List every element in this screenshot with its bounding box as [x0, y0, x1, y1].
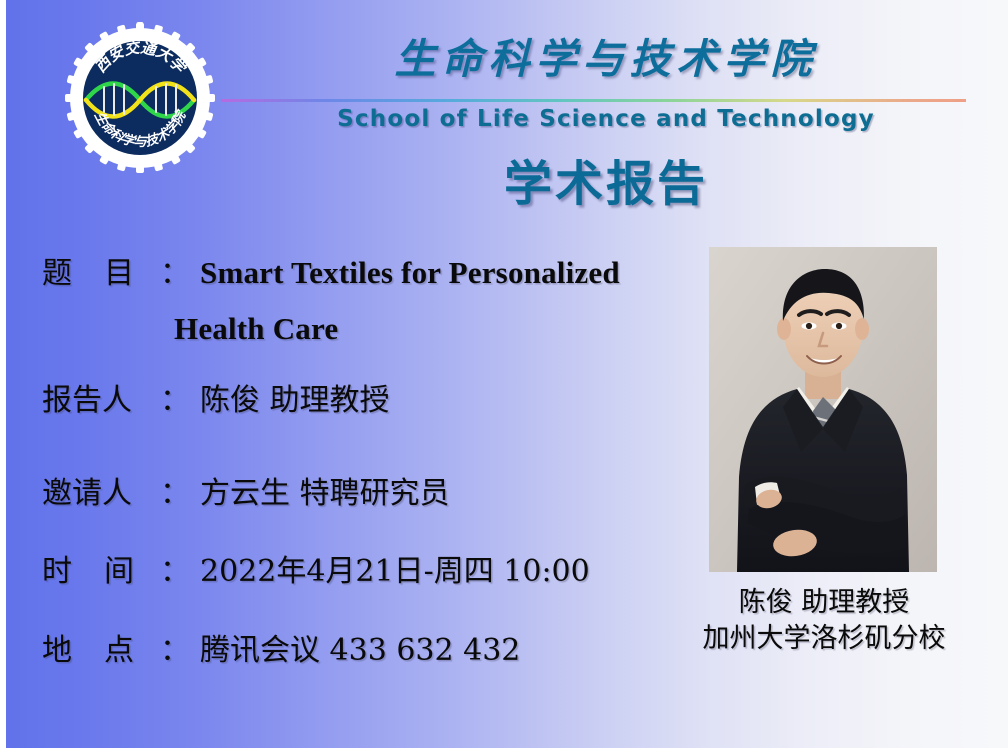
colon-topic: ：: [160, 248, 190, 292]
school-name-en: School of Life Science and Technology: [256, 106, 956, 132]
value-topic-line1: Smart Textiles for Personalized: [200, 255, 620, 291]
row-speaker: 报告人 ： 陈俊 助理教授: [42, 375, 390, 419]
row-inviter: 邀请人 ： 方云生 特聘研究员: [42, 468, 450, 512]
caption-affiliation: 加州大学洛杉矶分校: [646, 621, 1002, 657]
row-topic: 题目 ： Smart Textiles for Personalized: [42, 248, 620, 292]
rainbow-divider: [221, 99, 966, 102]
label-inviter: 邀请人: [42, 468, 160, 512]
seminar-poster: 西安交通大学 生命科学与技术学院 生命科学与技术学院 School of Lif…: [0, 0, 1008, 756]
portrait-illustration: [709, 247, 937, 572]
label-speaker: 报告人: [42, 375, 160, 419]
value-speaker: 陈俊 助理教授: [200, 375, 390, 419]
colon-location: ：: [160, 625, 190, 669]
label-location: 地点: [42, 625, 160, 669]
colon-time: ：: [160, 546, 190, 590]
emblem-svg: 西安交通大学 生命科学与技术学院: [64, 22, 216, 174]
row-topic-continued: Health Care: [174, 311, 338, 347]
value-location: 腾讯会议 433 632 432: [200, 625, 520, 669]
colon-inviter: ：: [160, 468, 190, 512]
value-inviter: 方云生 特聘研究员: [200, 468, 450, 512]
school-name-cn: 生命科学与技术学院: [256, 38, 956, 81]
caption-name: 陈俊 助理教授: [646, 585, 1002, 621]
page-title: 学术报告: [256, 144, 956, 214]
photo-caption: 陈俊 助理教授 加州大学洛杉矶分校: [646, 585, 1002, 658]
label-topic: 题目: [42, 248, 160, 292]
label-time: 时间: [42, 546, 160, 590]
row-time: 时间 ： 2022年4月21日-周四 10:00: [42, 546, 590, 590]
poster-slide: 西安交通大学 生命科学与技术学院 生命科学与技术学院 School of Lif…: [6, 0, 1008, 748]
colon-speaker: ：: [160, 375, 190, 419]
school-emblem-logo: 西安交通大学 生命科学与技术学院: [64, 22, 216, 174]
speaker-portrait-photo: [709, 247, 937, 572]
row-location: 地点 ： 腾讯会议 433 632 432: [42, 625, 520, 669]
value-topic-line2: Health Care: [174, 311, 338, 347]
value-time: 2022年4月21日-周四 10:00: [200, 546, 590, 590]
